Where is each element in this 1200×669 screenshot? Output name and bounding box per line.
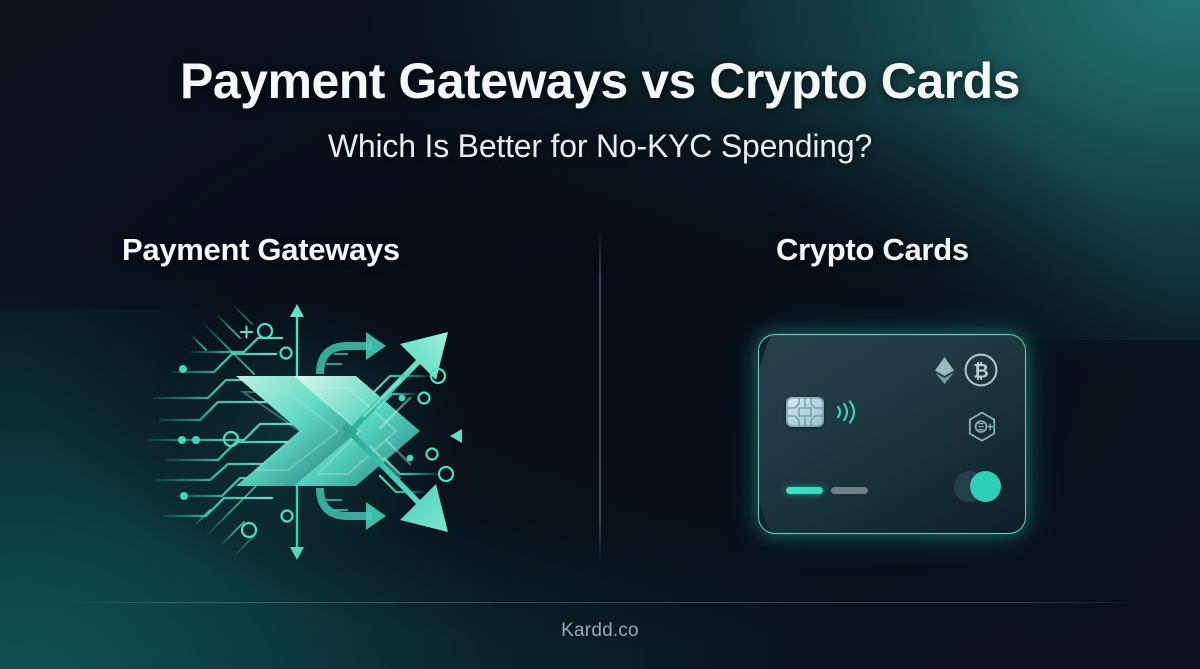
column-heading-crypto-cards: Crypto Cards: [776, 232, 969, 268]
svg-text:₿: ₿: [973, 362, 988, 383]
crypto-card: ₿: [758, 334, 1026, 534]
infographic-canvas: Payment Gateways vs Crypto Cards Which I…: [0, 0, 1200, 669]
hexagon-badge-icon: [967, 411, 997, 443]
column-divider-vertical: [599, 232, 601, 562]
column-heading-payment-gateways: Payment Gateways: [122, 232, 400, 268]
page-subtitle: Which Is Better for No-KYC Spending?: [0, 128, 1200, 165]
footer-brand: Kardd.co: [0, 620, 1200, 642]
card-number-bar-secondary: [831, 487, 868, 494]
circuit-chevrons-arrows-illustration: [148, 288, 474, 574]
background-glow-top-right: [680, 0, 1200, 340]
contactless-waves-icon: [834, 399, 856, 425]
footer-divider-horizontal: [68, 602, 1132, 603]
bitcoin-icon: ₿: [964, 353, 998, 387]
overlapping-circles-logo: [954, 471, 1001, 502]
logo-circle-front: [970, 471, 1001, 502]
emv-chip-icon: [786, 397, 824, 427]
crypto-payment-card-illustration: ₿: [758, 334, 1026, 534]
page-title: Payment Gateways vs Crypto Cards: [0, 52, 1200, 110]
ethereum-icon: [934, 357, 955, 384]
card-number-bar-primary: [786, 487, 823, 494]
